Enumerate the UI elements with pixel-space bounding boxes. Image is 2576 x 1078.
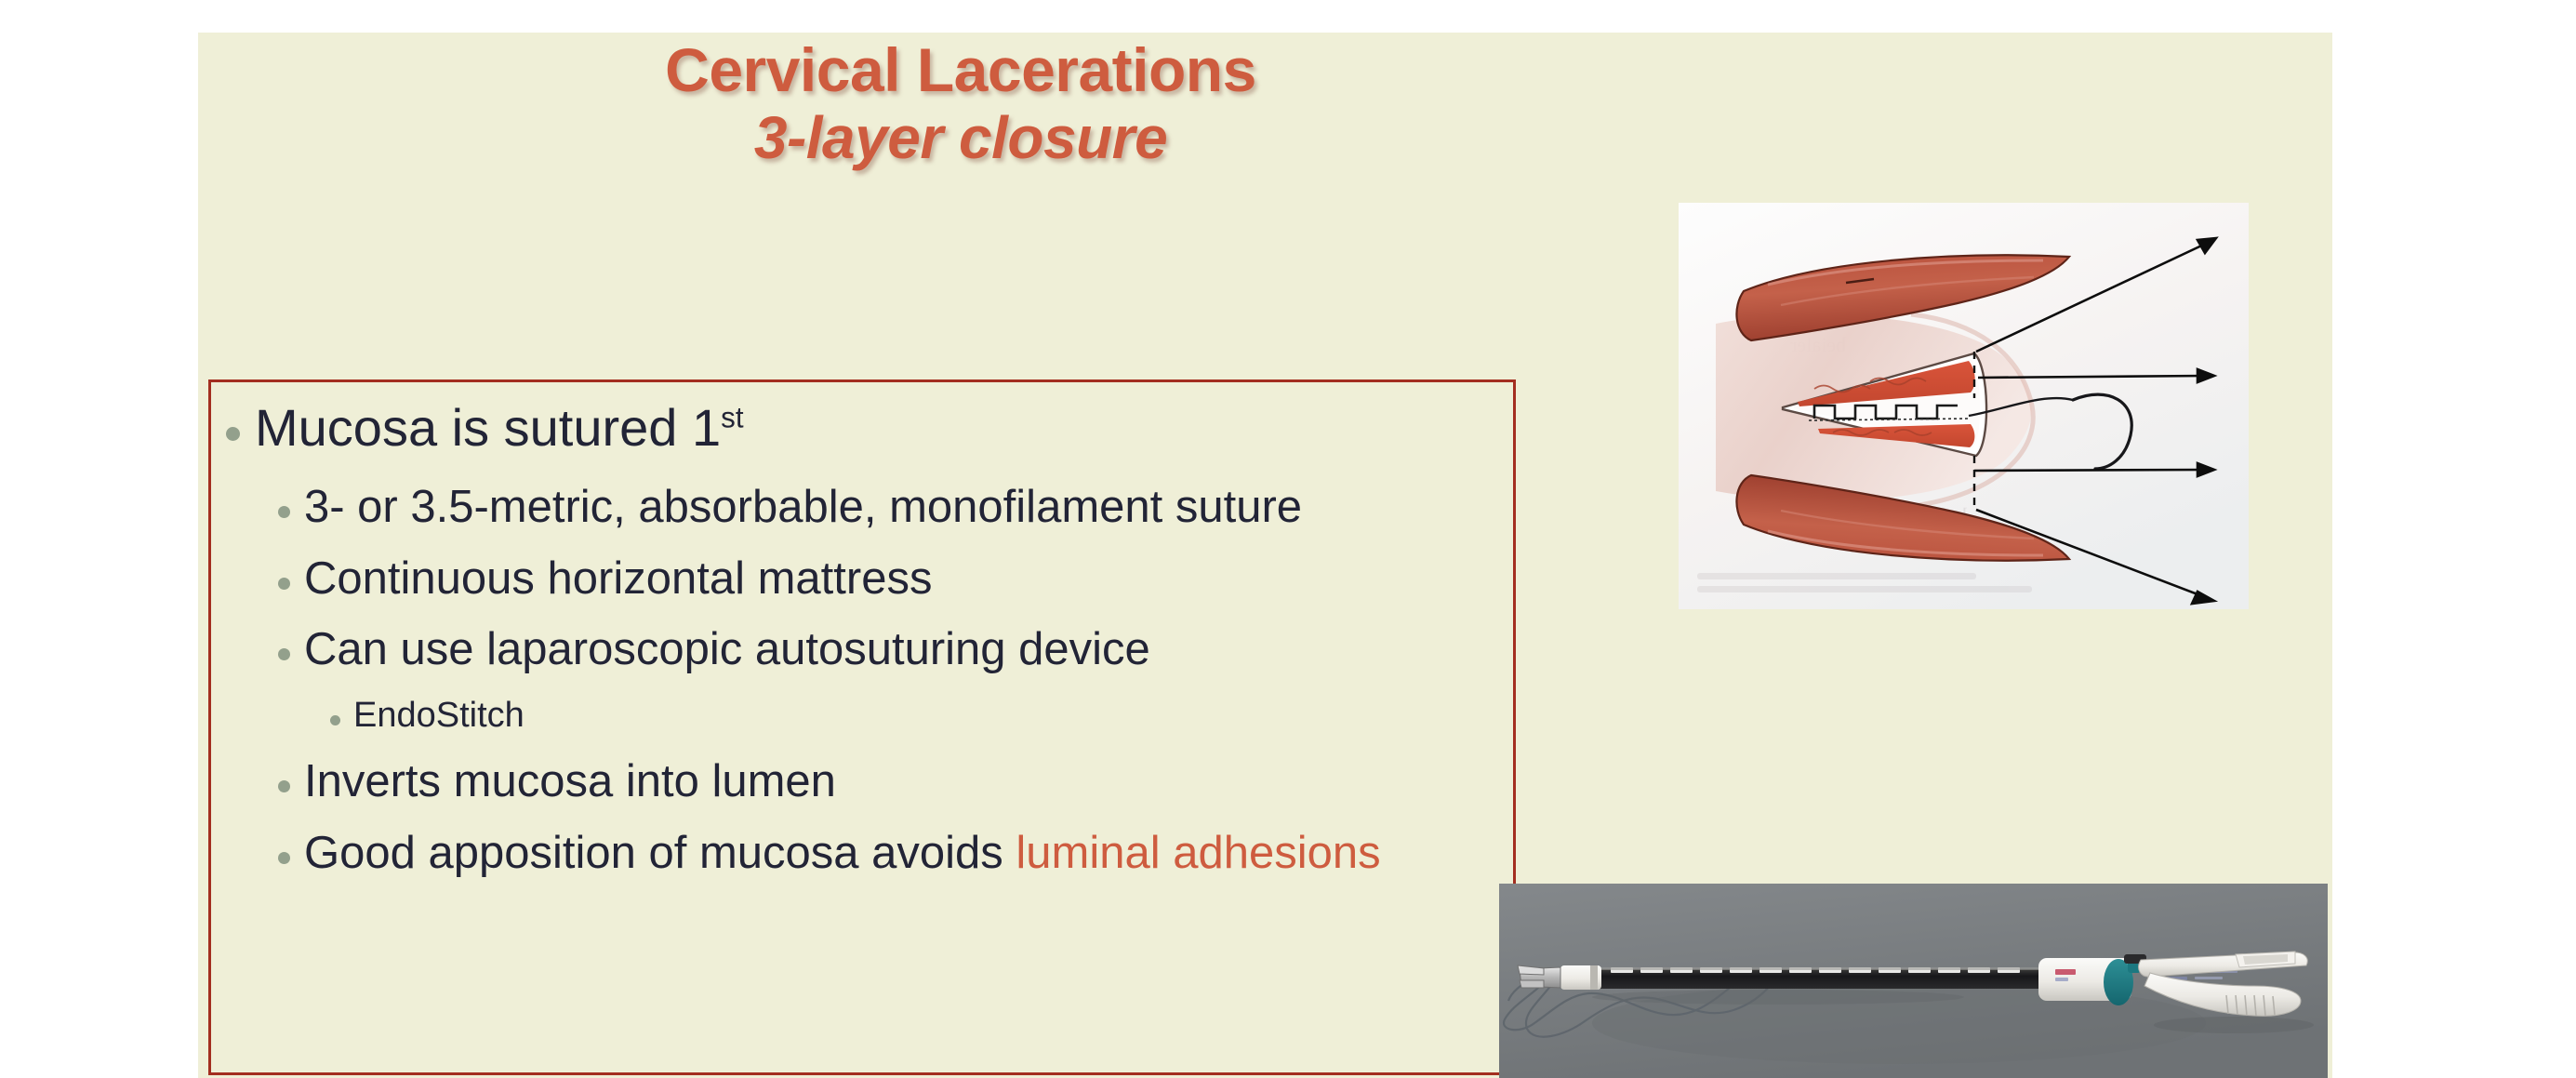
bullet-item-label: Mucosa is sutured 1st [255, 399, 1513, 458]
bullet-dot-icon [278, 648, 290, 660]
bullet-item-label: EndoStitch [353, 696, 1513, 736]
bullet-item-mucosa-sutured-first: Mucosa is sutured 1st [211, 399, 1513, 458]
bullet-text-accent: luminal adhesions [1016, 828, 1380, 878]
bullet-item-label: 3- or 3.5-metric, absorbable, monofilame… [304, 482, 1513, 533]
bullet-dot-icon [226, 427, 240, 441]
endostitch-laparoscopic-suturing-device-photo [1499, 884, 2328, 1078]
bullet-item-label: Continuous horizontal mattress [304, 553, 1513, 605]
bullet-item-continuous-horizontal-mattress: Continuous horizontal mattress [211, 553, 1513, 605]
bullet-item-label: Inverts mucosa into lumen [304, 756, 1513, 807]
bullet-dot-icon [278, 506, 290, 518]
bullet-item-suture-spec: 3- or 3.5-metric, absorbable, monofilame… [211, 482, 1513, 533]
bullet-list: Mucosa is sutured 1st 3- or 3.5-metric, … [211, 399, 1513, 899]
bullet-item-endostitch: EndoStitch [211, 696, 1513, 736]
presentation-slide: Cervical Lacerations 3-layer closure Muc… [198, 33, 2332, 1078]
bullet-text-main: Mucosa is sutured 1 [255, 398, 721, 457]
bullet-item-inverts-mucosa: Inverts mucosa into lumen [211, 756, 1513, 807]
bullet-dot-icon [330, 715, 340, 725]
slide-title-block: Cervical Lacerations 3-layer closure [198, 38, 1723, 170]
bullet-item-label: Good apposition of mucosa avoids luminal… [304, 828, 1513, 879]
ordinal-superscript: st [721, 401, 743, 433]
bullet-text-plain: Good apposition of mucosa avoids [304, 828, 1016, 878]
cervical-laceration-suture-diagram: beialer sgoundg submucosa belated closed [1679, 203, 2249, 609]
bullet-dot-icon [278, 852, 290, 864]
bullet-item-label: Can use laparoscopic autosuturing device [304, 624, 1513, 675]
bullet-dot-icon [278, 780, 290, 792]
slide-title: Cervical Lacerations [198, 38, 1723, 103]
slide-subtitle: 3-layer closure [198, 107, 1723, 170]
bullet-item-autosuturing-device: Can use laparoscopic autosuturing device [211, 624, 1513, 675]
bullet-item-good-apposition: Good apposition of mucosa avoids luminal… [211, 828, 1513, 879]
bullet-dot-icon [278, 578, 290, 590]
body-text-box: Mucosa is sutured 1st 3- or 3.5-metric, … [208, 379, 1516, 1075]
